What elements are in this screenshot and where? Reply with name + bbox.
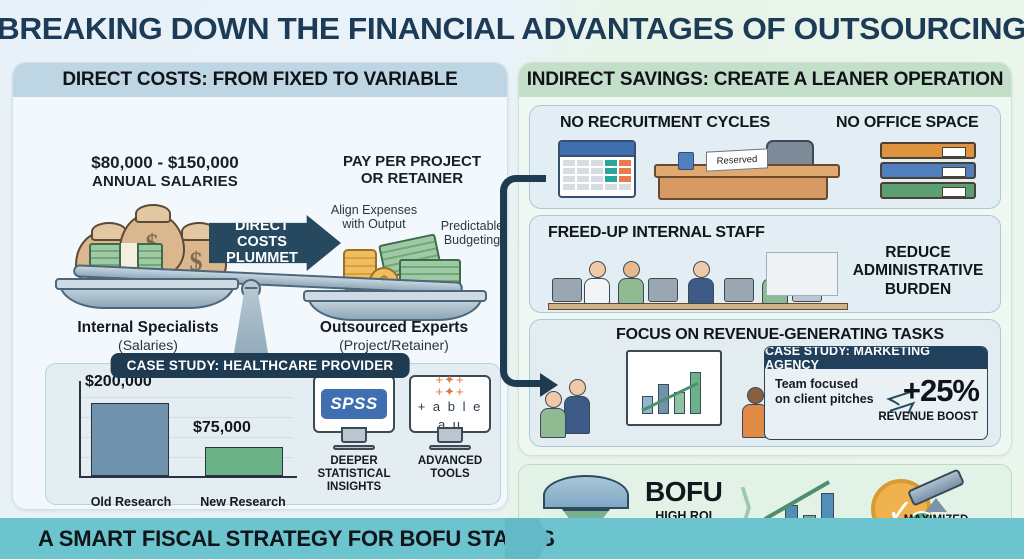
bar-new-research-budget — [205, 447, 283, 476]
monitor-icon: SPSS — [313, 375, 395, 433]
chart-x-axis — [79, 476, 297, 478]
presentation-board-icon — [626, 350, 722, 426]
note-predictable-line-2: Budgeting — [431, 233, 508, 247]
scale-right-sub: (Project/Retainer) — [289, 337, 499, 353]
freed-up-staff-title: FREED-UP INTERNAL STAFF — [548, 224, 765, 242]
revenue-focus-title: FOCUS ON REVENUE-GENERATING TASKS — [616, 326, 944, 344]
bar-category-old: Old Research Budget — [77, 496, 185, 511]
salary-caption: ANNUAL SALARIES — [55, 173, 275, 190]
desk-icon — [658, 170, 828, 200]
marketing-case-study-text: Team focused on client pitches — [775, 377, 874, 408]
page-title-bar: BREAKING DOWN THE FINANCIAL ADVANTAGES O… — [0, 0, 1024, 58]
reduce-admin-burden-text: REDUCE ADMINISTRATIVE BURDEN — [850, 244, 986, 299]
revenue-metric-caption: REVENUE BOOST — [878, 411, 978, 423]
tool-spss: SPSS DEEPER STATISTICAL INSIGHTS — [313, 375, 395, 495]
analytics-tools-group: SPSS DEEPER STATISTICAL INSIGHTS +✦++✦+ … — [313, 375, 493, 495]
case-text-line-1: Team focused — [775, 377, 874, 392]
pay-model-label: PAY PER PROJECT OR RETAINER — [329, 153, 495, 188]
calendar-icon — [558, 140, 636, 198]
revenue-focus-card: FOCUS ON REVENUE-GENERATING TASKS CASE S… — [529, 319, 1001, 447]
monitor-stand — [333, 445, 375, 450]
marketing-case-study-header: CASE STUDY: MARKETING AGENCY — [765, 347, 987, 369]
footer-text: A SMART FISCAL STRATEGY FOR BOFU STAGES — [38, 526, 555, 552]
scale-left-title: Internal Specialists — [43, 319, 253, 337]
scale-right-title: Outsourced Experts — [289, 319, 499, 337]
budget-bar-chart: $200,000 $75,000 Old Research Budget New… — [61, 375, 297, 501]
chart-y-axis — [79, 381, 81, 477]
tool-caption-tableau: ADVANCED TOOLS — [409, 455, 491, 481]
arrow-banner-line-1: DIRECT COSTS — [209, 219, 315, 251]
revenue-metric: +25% — [903, 373, 979, 409]
pay-model-line-2: OR RETAINER — [329, 170, 495, 187]
flow-connector-arrowhead — [540, 373, 558, 397]
no-recruitment-office-card: NO RECRUITMENT CYCLES NO OFFICE SPACE Re… — [529, 105, 1001, 209]
staff-at-desks-illustration — [548, 248, 848, 310]
freed-up-staff-card: FREED-UP INTERNAL STAFF REDUCE ADMINISTR… — [529, 215, 1001, 313]
monitor-stand — [429, 445, 471, 450]
pay-model-line-1: PAY PER PROJECT — [329, 153, 495, 170]
flow-connector-bracket — [500, 175, 546, 387]
tool-tableau: +✦++✦+ + a b l e a u ADVANCED TOOLS — [409, 375, 491, 495]
spss-logo: SPSS — [321, 389, 386, 419]
chart-gridline — [81, 397, 293, 398]
indirect-savings-panel: INDIRECT SAVINGS: CREATE A LEANER OPERAT… — [518, 62, 1012, 456]
salary-amount: $80,000 - $150,000 — [55, 153, 275, 173]
scale-pan-left — [59, 283, 235, 309]
case-study-ribbon: CASE STUDY: HEALTHCARE PROVIDER — [111, 353, 410, 378]
infographic-root: BREAKING DOWN THE FINANCIAL ADVANTAGES O… — [0, 0, 1024, 559]
monitor-icon: +✦++✦+ + a b l e a u — [409, 375, 491, 433]
no-recruitment-cycles-title: NO RECRUITMENT CYCLES — [560, 114, 770, 132]
balance-scale-scene: $80,000 - $150,000 ANNUAL SALARIES PAY P… — [13, 97, 507, 387]
scale-left-sub: (Salaries) — [43, 337, 253, 353]
marketing-case-study-box: CASE STUDY: MARKETING AGENCY Team focuse… — [764, 346, 988, 440]
bar-old-research-budget — [91, 403, 169, 476]
reserved-sign: Reserved — [706, 148, 768, 171]
note-predictable-line-1: Predictable — [431, 219, 508, 233]
scale-pan-right — [307, 295, 483, 321]
note-align-line-2: with Output — [319, 217, 429, 231]
scale-left-caption: Internal Specialists (Salaries) — [43, 319, 253, 353]
bar-value-new: $75,000 — [193, 419, 251, 437]
bofu-label: BOFU — [645, 479, 722, 506]
case-text-line-2: on client pitches — [775, 392, 874, 407]
salary-label-group: $80,000 - $150,000 ANNUAL SALARIES — [55, 153, 275, 190]
bar-category-new: New Research Budget — [189, 496, 297, 511]
scale-right-caption: Outsourced Experts (Project/Retainer) — [289, 319, 499, 353]
no-office-space-title: NO OFFICE SPACE — [836, 114, 979, 132]
tableau-logo: + a b l e a u — [418, 399, 483, 432]
note-align-expenses: Align Expenses with Output — [319, 203, 429, 232]
presenter-person-icon — [564, 379, 590, 434]
binders-icon — [880, 142, 976, 202]
note-predictable-budgeting: Predictable Budgeting — [431, 219, 508, 248]
direct-costs-header: DIRECT COSTS: FROM FIXED TO VARIABLE — [13, 63, 507, 97]
direct-costs-panel: DIRECT COSTS: FROM FIXED TO VARIABLE $80… — [12, 62, 508, 510]
note-align-line-1: Align Expenses — [319, 203, 429, 217]
wall-chart-icon — [766, 252, 838, 296]
pencil-cup-icon — [678, 152, 694, 170]
page-title: BREAKING DOWN THE FINANCIAL ADVANTAGES O… — [0, 11, 1024, 47]
seated-person-icon — [540, 391, 566, 438]
tableau-spark-icon: +✦++✦+ — [411, 374, 489, 397]
indirect-savings-header: INDIRECT SAVINGS: CREATE A LEANER OPERAT… — [519, 63, 1011, 97]
tool-caption-spss: DEEPER STATISTICAL INSIGHTS — [313, 455, 395, 495]
